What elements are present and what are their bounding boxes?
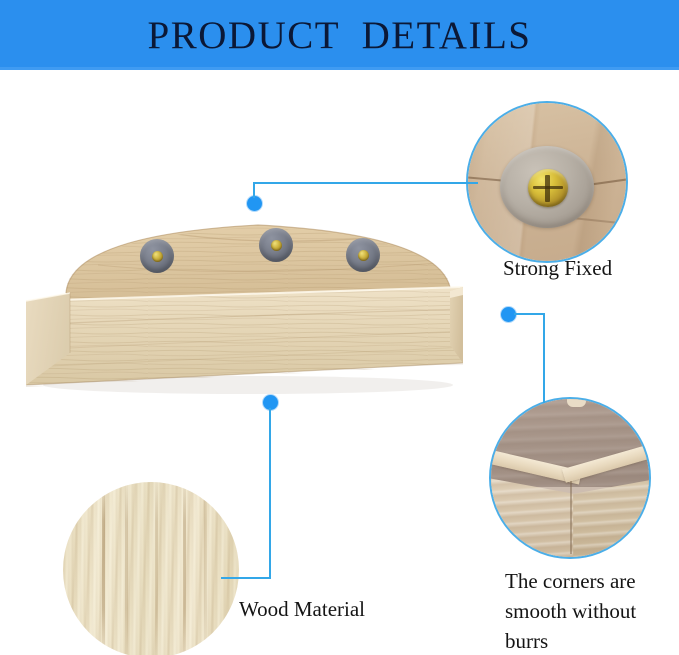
wood-streak bbox=[125, 482, 128, 655]
connector-line-wood-material-horizontal bbox=[221, 577, 271, 579]
mounting-screw-right bbox=[346, 238, 380, 272]
front-grain-texture bbox=[573, 478, 651, 559]
wood-streak bbox=[183, 482, 186, 655]
corner-closeup-photo bbox=[491, 399, 649, 557]
product-image bbox=[8, 205, 508, 395]
callout-dot-strong-fixed bbox=[247, 196, 262, 211]
callout-circle-smooth-corners bbox=[489, 397, 651, 559]
product-illustration bbox=[8, 205, 508, 395]
connector-line-smooth-corners-horizontal bbox=[514, 313, 545, 315]
wood-streak bbox=[155, 482, 158, 655]
wood-grain-texture bbox=[63, 482, 239, 655]
tray-front-wall bbox=[573, 478, 651, 559]
callout-circle-strong-fixed bbox=[466, 101, 628, 263]
screw-closeup-photo bbox=[468, 103, 626, 261]
connector-line-strong-fixed-horizontal bbox=[253, 182, 478, 184]
hanging-notch bbox=[567, 397, 586, 407]
wood-streak bbox=[204, 482, 207, 655]
connector-line-smooth-corners-vertical bbox=[543, 313, 545, 403]
connector-line-strong-fixed-vertical bbox=[253, 182, 255, 198]
connector-line-wood-material-vertical bbox=[269, 408, 271, 579]
callout-circle-wood-material bbox=[63, 482, 239, 655]
screw-slot bbox=[545, 175, 549, 202]
callout-label-strong-fixed: Strong Fixed bbox=[503, 256, 612, 281]
brass-screw-head bbox=[528, 169, 568, 207]
callout-label-smooth-corners: The corners are smooth without burrs bbox=[505, 566, 679, 655]
callout-label-wood-material: Wood Material bbox=[239, 597, 365, 622]
product-details-infographic: PRODUCT DETAILS bbox=[0, 0, 679, 655]
corner-joint-edge bbox=[570, 481, 572, 554]
wood-grain-photo bbox=[63, 482, 239, 655]
wood-crack bbox=[572, 217, 628, 224]
mounting-screw-left bbox=[140, 239, 174, 273]
mounting-screw-center bbox=[259, 228, 293, 262]
page-title: PRODUCT DETAILS bbox=[0, 0, 679, 70]
wood-streak bbox=[102, 482, 105, 655]
